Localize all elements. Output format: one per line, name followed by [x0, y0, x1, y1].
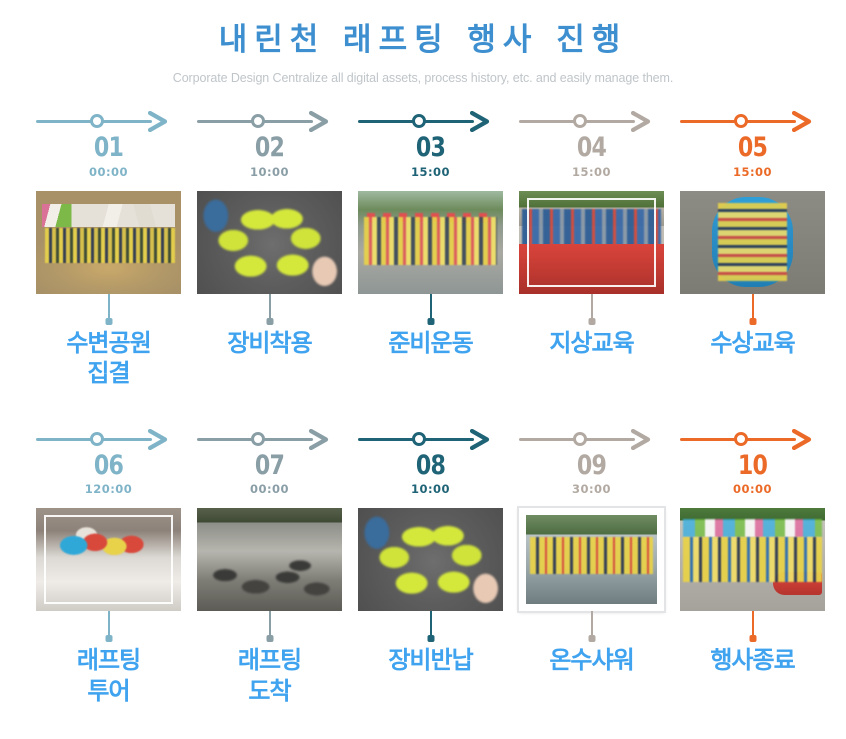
step-label: 온수샤워 — [515, 645, 668, 676]
timeline-step-02[interactable]: 0210:00 — [193, 109, 346, 178]
step-time: 00:00 — [676, 482, 829, 496]
connector-line — [269, 294, 271, 320]
step-time: 15:00 — [676, 165, 829, 179]
timeline-step-media-04[interactable]: 지상교육 — [515, 179, 668, 389]
step-time: 10:00 — [193, 165, 346, 179]
connector-dot — [427, 635, 434, 642]
timeline-row-1: 0100:000210:000315:000415:000515:00 수변공원… — [0, 109, 846, 389]
step-number: 06 — [46, 452, 171, 480]
arrow-indicator — [197, 109, 342, 133]
raft-shape — [773, 572, 822, 595]
arrow-node-dot — [251, 114, 265, 128]
timeline-step-04[interactable]: 0415:00 — [515, 109, 668, 178]
photo-label-connector — [36, 294, 181, 326]
step-number: 09 — [529, 452, 654, 480]
arrow-node-dot — [412, 114, 426, 128]
photo-label-connector — [519, 294, 664, 326]
photo-thumbnail[interactable] — [519, 508, 664, 611]
timeline-row-2: 06120:000700:000810:000930:001000:00 래프팅… — [0, 427, 846, 707]
connector-line — [591, 611, 593, 637]
timeline-step-08[interactable]: 0810:00 — [354, 427, 507, 496]
step-time: 120:00 — [32, 482, 185, 496]
step-time: 10:00 — [354, 482, 507, 496]
step-time: 00:00 — [193, 482, 346, 496]
arrow-head-icon — [148, 111, 170, 132]
page-subtitle: Corporate Design Centralize all digital … — [0, 71, 846, 85]
page-header: 내린천 래프팅 행사 진행 Corporate Design Centraliz… — [0, 0, 846, 85]
step-number: 04 — [529, 134, 654, 162]
arrow-indicator — [36, 109, 181, 133]
photo-image — [680, 508, 825, 611]
photo-label-connector — [358, 611, 503, 643]
arrow-head-icon — [631, 429, 653, 450]
step-number: 07 — [207, 452, 332, 480]
timeline-track-top-2: 06120:000700:000810:000930:001000:00 — [0, 427, 846, 496]
connector-line — [591, 294, 593, 320]
arrow-node-dot — [573, 432, 587, 446]
timeline-step-media-06[interactable]: 래프팅 투어 — [32, 496, 185, 706]
photo-thumbnail[interactable] — [358, 508, 503, 611]
timeline-step-06[interactable]: 06120:00 — [32, 427, 185, 496]
photo-label-connector — [197, 294, 342, 326]
arrow-head-icon — [792, 429, 814, 450]
arrow-head-icon — [148, 429, 170, 450]
arrow-indicator — [680, 427, 825, 451]
connector-dot — [427, 318, 434, 325]
arrow-node-dot — [412, 432, 426, 446]
step-label: 래프팅 투어 — [32, 645, 185, 706]
photo-label-connector — [680, 294, 825, 326]
connector-dot — [266, 318, 273, 325]
step-label: 장비반납 — [354, 645, 507, 676]
timeline-step-media-05[interactable]: 수상교육 — [676, 179, 829, 389]
timeline-track-photos-1: 수변공원 집결장비착용준비운동지상교육수상교육 — [0, 179, 846, 389]
arrow-node-dot — [90, 432, 104, 446]
timeline-step-media-07[interactable]: 래프팅 도착 — [193, 496, 346, 706]
step-number: 03 — [368, 134, 493, 162]
timeline-step-media-08[interactable]: 장비반납 — [354, 496, 507, 706]
arrow-indicator — [680, 109, 825, 133]
timeline-step-09[interactable]: 0930:00 — [515, 427, 668, 496]
arrow-indicator — [358, 427, 503, 451]
timeline-step-media-03[interactable]: 준비운동 — [354, 179, 507, 389]
infographic-page: 내린천 래프팅 행사 진행 Corporate Design Centraliz… — [0, 0, 846, 739]
connector-line — [430, 294, 432, 320]
photo-label-connector — [519, 611, 664, 643]
timeline-step-media-01[interactable]: 수변공원 집결 — [32, 179, 185, 389]
connector-line — [752, 294, 754, 320]
connector-line — [430, 611, 432, 637]
connector-dot — [749, 635, 756, 642]
connector-line — [752, 611, 754, 637]
step-label: 수변공원 집결 — [32, 328, 185, 389]
step-number: 08 — [368, 452, 493, 480]
step-number: 10 — [690, 452, 815, 480]
timeline-step-07[interactable]: 0700:00 — [193, 427, 346, 496]
photo-thumbnail[interactable] — [36, 191, 181, 294]
photo-thumbnail[interactable] — [680, 508, 825, 611]
timeline-track-top-1: 0100:000210:000315:000415:000515:00 — [0, 109, 846, 178]
step-number: 01 — [46, 134, 171, 162]
photo-label-connector — [36, 611, 181, 643]
arrow-head-icon — [309, 111, 331, 132]
connector-dot — [105, 635, 112, 642]
photo-thumbnail[interactable] — [358, 191, 503, 294]
step-label: 행사종료 — [676, 645, 829, 676]
photo-image — [519, 191, 664, 294]
step-label: 지상교육 — [515, 328, 668, 359]
connector-line — [269, 611, 271, 637]
page-title: 내린천 래프팅 행사 진행 — [0, 22, 846, 59]
arrow-node-dot — [734, 432, 748, 446]
timeline-step-05[interactable]: 0515:00 — [676, 109, 829, 178]
step-time: 00:00 — [32, 165, 185, 179]
arrow-indicator — [519, 109, 664, 133]
step-label: 장비착용 — [193, 328, 346, 359]
photo-image — [36, 508, 181, 611]
arrow-head-icon — [470, 429, 492, 450]
arrow-head-icon — [470, 111, 492, 132]
step-label: 수상교육 — [676, 328, 829, 359]
timeline-step-media-02[interactable]: 장비착용 — [193, 179, 346, 389]
arrow-head-icon — [631, 111, 653, 132]
connector-dot — [588, 318, 595, 325]
connector-line — [108, 294, 110, 320]
photo-label-connector — [197, 611, 342, 643]
step-number: 05 — [690, 134, 815, 162]
timeline-step-03[interactable]: 0315:00 — [354, 109, 507, 178]
timeline-step-media-10[interactable]: 행사종료 — [676, 496, 829, 706]
arrow-indicator — [358, 109, 503, 133]
connector-dot — [749, 318, 756, 325]
arrow-node-dot — [251, 432, 265, 446]
arrow-node-dot — [90, 114, 104, 128]
connector-dot — [588, 635, 595, 642]
arrow-indicator — [519, 427, 664, 451]
arrow-head-icon — [792, 111, 814, 132]
photo-thumbnail[interactable] — [197, 191, 342, 294]
photo-label-connector — [358, 294, 503, 326]
arrow-head-icon — [309, 429, 331, 450]
photo-image — [526, 515, 657, 604]
photo-thumbnail[interactable] — [197, 508, 342, 611]
photo-thumbnail[interactable] — [36, 508, 181, 611]
arrow-node-dot — [734, 114, 748, 128]
photo-image — [36, 191, 181, 294]
arrow-indicator — [36, 427, 181, 451]
photo-image — [197, 508, 342, 611]
arrow-node-dot — [573, 114, 587, 128]
connector-dot — [105, 318, 112, 325]
photo-image — [358, 508, 503, 611]
photo-image — [680, 191, 825, 294]
photo-label-connector — [680, 611, 825, 643]
connector-dot — [266, 635, 273, 642]
photo-image — [358, 191, 503, 294]
step-time: 30:00 — [515, 482, 668, 496]
timeline-step-media-09[interactable]: 온수샤워 — [515, 496, 668, 706]
arrow-indicator — [197, 427, 342, 451]
connector-line — [108, 611, 110, 637]
step-label: 준비운동 — [354, 328, 507, 359]
timeline-step-01[interactable]: 0100:00 — [32, 109, 185, 178]
step-label: 래프팅 도착 — [193, 645, 346, 706]
timeline-track-photos-2: 래프팅 투어래프팅 도착장비반납온수샤워행사종료 — [0, 496, 846, 706]
step-time: 15:00 — [354, 165, 507, 179]
photo-image — [197, 191, 342, 294]
timeline-step-10[interactable]: 1000:00 — [676, 427, 829, 496]
step-number: 02 — [207, 134, 332, 162]
step-time: 15:00 — [515, 165, 668, 179]
photo-thumbnail[interactable] — [519, 191, 664, 294]
photo-thumbnail[interactable] — [680, 191, 825, 294]
